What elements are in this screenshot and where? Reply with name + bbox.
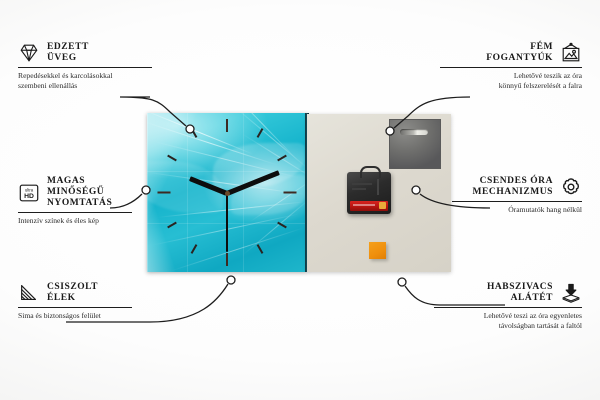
clock-tick	[226, 119, 228, 132]
divider	[18, 67, 152, 68]
callout-title: FÉM FOGANTYÚK	[486, 42, 553, 64]
clock-center-pivot	[225, 191, 230, 196]
clock-tick	[257, 128, 264, 138]
callout-high-quality-print[interactable]: ultra HD MAGAS MINŐSÉGŰ NYOMTATÁS Intenz…	[18, 176, 136, 226]
picture-hanger-icon	[560, 42, 582, 64]
clock-back-panel	[307, 114, 451, 272]
clock-mechanism	[347, 172, 391, 214]
mechanism-hanging-loop	[360, 166, 381, 178]
callout-subtitle: Lehetővé teszik az óra könnyű felszerelé…	[440, 71, 582, 90]
diamond-icon	[18, 42, 40, 64]
divider	[434, 307, 582, 308]
mechanism-detail	[352, 183, 372, 185]
ultra-hd-icon: ultra HD	[18, 182, 40, 204]
battery-plus-terminal	[379, 202, 386, 209]
mechanism-detail	[377, 179, 379, 195]
callout-header: EDZETT ÜVEG	[18, 42, 158, 64]
svg-text:ultra: ultra	[25, 187, 34, 192]
divider	[18, 212, 132, 213]
product-image	[147, 112, 451, 273]
callout-tempered-glass[interactable]: EDZETT ÜVEG Repedésekkel és karcolásokka…	[18, 42, 158, 90]
clock-tick	[226, 253, 228, 266]
callout-title: MAGAS MINŐSÉGŰ NYOMTATÁS	[47, 176, 136, 209]
callout-polished-edges[interactable]: CSISZOLT ÉLEK Sima és biztonságos felüle…	[18, 282, 130, 321]
callout-subtitle: Repedésekkel és karcolásokkal szembeni e…	[18, 71, 158, 90]
clock-tick	[158, 192, 171, 194]
clock-tick	[284, 192, 297, 194]
metal-hanger-plate	[389, 119, 441, 169]
callout-foam-pad[interactable]: HABSZIVACS ALÁTÉT Lehetővé teszi az óra …	[434, 282, 582, 330]
infographic-canvas: EDZETT ÜVEG Repedésekkel és karcolásokka…	[0, 0, 600, 400]
battery	[350, 201, 388, 211]
polished-edges-icon	[18, 282, 40, 304]
foam-pad-icon	[560, 282, 582, 304]
callout-subtitle: Lehetővé teszi az óra egyenletes távolsá…	[434, 311, 582, 330]
gear-icon	[560, 176, 582, 198]
callout-header: HABSZIVACS ALÁTÉT	[434, 282, 582, 304]
callout-subtitle: Óramutatók hang nélkül	[452, 205, 582, 215]
callout-header: CSISZOLT ÉLEK	[18, 282, 130, 304]
clock-tick	[257, 244, 264, 254]
callout-title: CSISZOLT ÉLEK	[47, 282, 98, 304]
clock-second-hand	[226, 194, 228, 252]
divider	[440, 67, 582, 68]
hanger-slot	[400, 129, 428, 135]
mechanism-detail	[352, 188, 366, 190]
callout-metal-hangers[interactable]: FÉM FOGANTYÚK Lehetővé teszik az óra kön…	[440, 42, 582, 90]
callout-header: CSENDES ÓRA MECHANIZMUS	[452, 176, 582, 198]
divider	[452, 201, 582, 202]
callout-subtitle: Sima és biztonságos felület	[18, 311, 130, 321]
callout-title: HABSZIVACS ALÁTÉT	[487, 282, 553, 304]
callout-header: ultra HD MAGAS MINŐSÉGŰ NYOMTATÁS	[18, 176, 136, 209]
callout-header: FÉM FOGANTYÚK	[440, 42, 582, 64]
divider	[18, 307, 132, 308]
callout-title: CSENDES ÓRA MECHANIZMUS	[473, 176, 553, 198]
callout-title: EDZETT ÜVEG	[47, 42, 89, 64]
svg-text:HD: HD	[24, 193, 34, 200]
clock-face	[147, 113, 307, 272]
callout-subtitle: Intenzív színek és éles kép	[18, 216, 136, 226]
callout-silent-mechanism[interactable]: CSENDES ÓRA MECHANIZMUS Óramutatók hang …	[452, 176, 582, 215]
clock-tick	[191, 244, 198, 254]
battery-label-stripe	[353, 204, 375, 206]
foam-pad	[369, 242, 386, 259]
